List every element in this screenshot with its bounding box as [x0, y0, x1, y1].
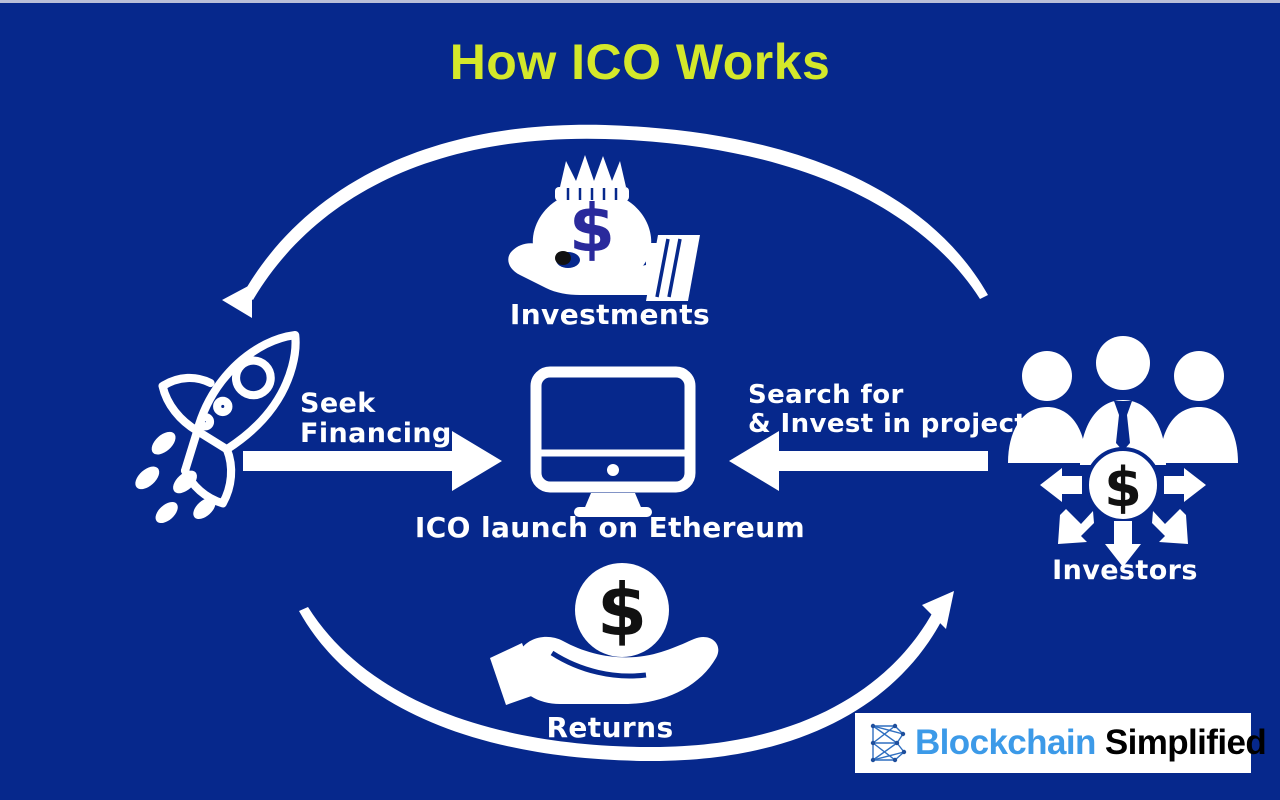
rocket-icon: [131, 335, 295, 527]
node-label-investments: Investments: [440, 299, 780, 330]
hand-holding-coin-icon: $: [490, 563, 718, 705]
search-invest-arrow: [729, 431, 988, 491]
node-label-investors: Investors: [990, 556, 1260, 586]
hand-holding-money-bag-icon: $: [508, 155, 700, 301]
edge-label-seek-financing: Seek Financing: [300, 389, 480, 449]
person-silhouette-left: [1008, 351, 1086, 463]
edge-label-search-and-invest: Search for & Invest in project: [748, 381, 1018, 439]
diagram-graphics-layer: $ $: [0, 3, 1280, 800]
node-label-returns: Returns: [460, 712, 760, 743]
desktop-monitor-icon: [536, 372, 690, 517]
svg-text:$: $: [1104, 456, 1142, 519]
logo-wordmark: Blockchain Simplified: [915, 723, 1266, 763]
svg-text:$: $: [597, 568, 647, 652]
logo-word-blockchain: Blockchain: [915, 723, 1096, 762]
infographic-canvas: How ICO Works: [0, 0, 1280, 800]
person-silhouette-center: [1080, 336, 1166, 465]
blockchain-network-b-icon: [867, 721, 909, 765]
person-silhouette-right: [1160, 351, 1238, 463]
node-label-ico-platform: ICO launch on Ethereum: [390, 512, 830, 543]
logo-word-simplified: Simplified: [1096, 723, 1266, 762]
brand-logo[interactable]: Blockchain Simplified: [855, 713, 1251, 773]
group-of-people-icon: $: [1008, 336, 1238, 567]
